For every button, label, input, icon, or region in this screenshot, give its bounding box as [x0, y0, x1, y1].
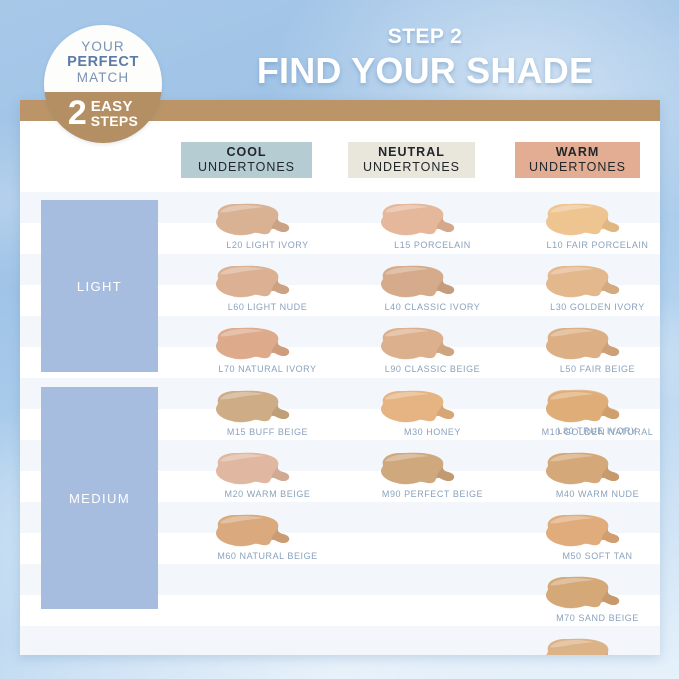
shade-swatch-icon	[538, 264, 630, 300]
shade-swatch-icon	[208, 202, 300, 238]
badge-steps-stack: EASY STEPS	[91, 99, 138, 128]
badge-line-perfect: PERFECT	[67, 54, 139, 70]
shade-swatch-icon	[373, 326, 465, 362]
shade-cell[interactable]: L20 LIGHT IVORY	[180, 200, 355, 260]
badge-easy-label: EASY	[91, 99, 138, 114]
shade-cell[interactable]: M50 SOFT TAN	[510, 511, 660, 571]
shade-label: M90 PERFECT BEIGE	[345, 489, 520, 499]
shade-label: M30 HONEY	[345, 427, 520, 437]
shade-label: L15 PORCELAIN	[345, 240, 520, 250]
column-header-neutral-title: NEUTRAL	[378, 145, 445, 160]
shade-label: M40 WARM NUDE	[510, 489, 660, 499]
shade-cell[interactable]: M80 CARAMEL BEIGE	[510, 635, 660, 655]
shade-cell[interactable]: L10 FAIR PORCELAIN	[510, 200, 660, 260]
shade-label: L90 CLASSIC BEIGE	[345, 364, 520, 374]
column-header-neutral-subtitle: UNDERTONES	[363, 160, 460, 175]
shade-swatch-icon	[538, 326, 630, 362]
shade-cell[interactable]: M15 BUFF BEIGE	[180, 387, 355, 447]
column-header-cool: COOL UNDERTONES	[181, 142, 312, 178]
shade-swatch-icon	[538, 202, 630, 238]
shade-swatch-icon	[538, 575, 630, 611]
shade-label: M60 NATURAL BEIGE	[180, 551, 355, 561]
shade-label: L40 CLASSIC IVORY	[345, 302, 520, 312]
shade-grid: LIGHT MEDIUM L20 LIGHT IVORYL60 LIGHT NU…	[20, 192, 660, 655]
shade-label: M15 BUFF BEIGE	[180, 427, 355, 437]
shade-swatch-icon	[538, 389, 630, 425]
shade-swatch-icon	[373, 389, 465, 425]
shade-cell[interactable]: M70 SAND BEIGE	[510, 573, 660, 633]
column-header-cool-title: COOL	[226, 145, 266, 160]
shade-cell[interactable]: M60 NATURAL BEIGE	[180, 511, 355, 571]
title-block: STEP 2 FIND YOUR SHADE	[190, 26, 660, 90]
shade-label: L10 FAIR PORCELAIN	[510, 240, 660, 250]
category-panel-light: LIGHT	[41, 200, 158, 372]
shade-label: L70 NATURAL IVORY	[180, 364, 355, 374]
shade-swatch-icon	[373, 264, 465, 300]
badge-line-match: MATCH	[77, 70, 130, 85]
shade-cell[interactable]: L15 PORCELAIN	[345, 200, 520, 260]
shade-cell[interactable]: L30 GOLDEN IVORY	[510, 262, 660, 322]
column-header-neutral: NEUTRAL UNDERTONES	[348, 142, 475, 178]
shade-label: L20 LIGHT IVORY	[180, 240, 355, 250]
shade-cell[interactable]: M40 WARM NUDE	[510, 449, 660, 509]
shade-swatch-icon	[208, 451, 300, 487]
shade-swatch-icon	[373, 451, 465, 487]
shade-swatch-icon	[538, 637, 630, 655]
shade-cell[interactable]: L60 LIGHT NUDE	[180, 262, 355, 322]
category-label-medium: MEDIUM	[69, 491, 130, 506]
badge-steps-label: STEPS	[91, 114, 138, 128]
shade-cell[interactable]: M30 HONEY	[345, 387, 520, 447]
category-panel-medium: MEDIUM	[41, 387, 158, 609]
shade-cell[interactable]: M20 WARM BEIGE	[180, 449, 355, 509]
page-title: FIND YOUR SHADE	[190, 52, 660, 90]
column-header-cool-subtitle: UNDERTONES	[198, 160, 295, 175]
shade-cell[interactable]: L70 NATURAL IVORY	[180, 324, 355, 384]
shade-swatch-icon	[208, 326, 300, 362]
column-header-warm-subtitle: UNDERTONES	[529, 160, 626, 175]
shade-cell[interactable]: M90 PERFECT BEIGE	[345, 449, 520, 509]
badge-bottom-half: 2 EASY STEPS	[44, 92, 162, 143]
shade-swatch-icon	[208, 264, 300, 300]
shade-finder-card: COOL UNDERTONES NEUTRAL UNDERTONES WARM …	[20, 100, 660, 655]
shade-swatch-icon	[538, 451, 630, 487]
shade-label: M70 SAND BEIGE	[510, 613, 660, 623]
shade-cell[interactable]: M10 GOLDEN NATURAL	[510, 387, 660, 447]
shade-label: L30 GOLDEN IVORY	[510, 302, 660, 312]
shade-label: L50 FAIR BEIGE	[510, 364, 660, 374]
column-header-warm: WARM UNDERTONES	[515, 142, 640, 178]
shade-label: M20 WARM BEIGE	[180, 489, 355, 499]
badge-line-your: YOUR	[81, 39, 124, 54]
column-header-warm-title: WARM	[556, 145, 600, 160]
shade-swatch-icon	[538, 513, 630, 549]
perfect-match-badge: YOUR PERFECT MATCH 2 EASY STEPS	[44, 25, 162, 143]
shade-label: M50 SOFT TAN	[510, 551, 660, 561]
step-label: STEP 2	[190, 26, 660, 47]
shade-cell[interactable]: L50 FAIR BEIGE	[510, 324, 660, 384]
shade-cell[interactable]: L90 CLASSIC BEIGE	[345, 324, 520, 384]
shade-label: M10 GOLDEN NATURAL	[510, 427, 660, 437]
shade-swatch-icon	[208, 513, 300, 549]
shade-swatch-icon	[208, 389, 300, 425]
shade-cell[interactable]: L40 CLASSIC IVORY	[345, 262, 520, 322]
shade-swatch-icon	[373, 202, 465, 238]
badge-top-half: YOUR PERFECT MATCH	[44, 25, 162, 92]
shade-label: L60 LIGHT NUDE	[180, 302, 355, 312]
badge-number: 2	[68, 99, 87, 128]
category-label-light: LIGHT	[77, 279, 122, 294]
